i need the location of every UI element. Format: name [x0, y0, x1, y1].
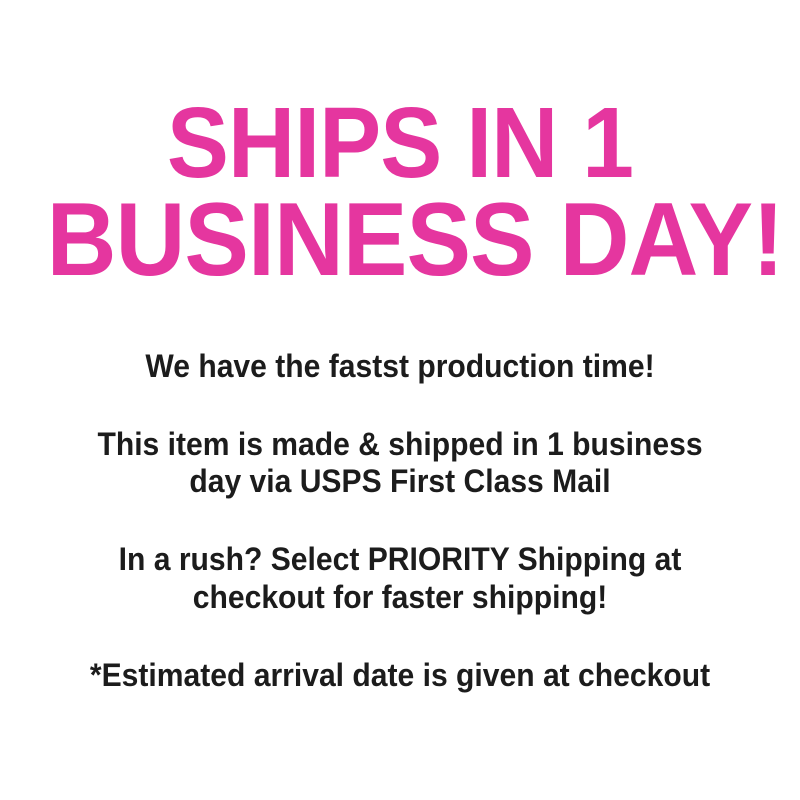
production-time-statement: We have the fastst production time!	[52, 348, 748, 386]
shipping-method-line-2: day via USPS First Class Mail	[52, 463, 748, 501]
shipping-method-statement: This item is made & shipped in 1 busines…	[52, 426, 748, 502]
priority-upgrade-line-2: checkout for faster shipping!	[52, 579, 748, 617]
shipping-method-line-1: This item is made & shipped in 1 busines…	[52, 426, 748, 464]
arrival-estimate-disclaimer: *Estimated arrival date is given at chec…	[52, 657, 748, 695]
arrival-estimate-line-1: *Estimated arrival date is given at chec…	[52, 657, 748, 695]
priority-upgrade-line-1: In a rush? Select PRIORITY Shipping at	[52, 541, 748, 579]
headline-line-2: BUSINESS DAY!	[47, 191, 754, 290]
priority-upgrade-statement: In a rush? Select PRIORITY Shipping at c…	[52, 541, 748, 617]
production-time-line-1: We have the fastst production time!	[52, 348, 748, 386]
headline: SHIPS IN 1 BUSINESS DAY!	[47, 96, 754, 290]
headline-line-1: SHIPS IN 1	[47, 96, 754, 191]
shipping-info-graphic: SHIPS IN 1 BUSINESS DAY! We have the fas…	[0, 0, 800, 800]
